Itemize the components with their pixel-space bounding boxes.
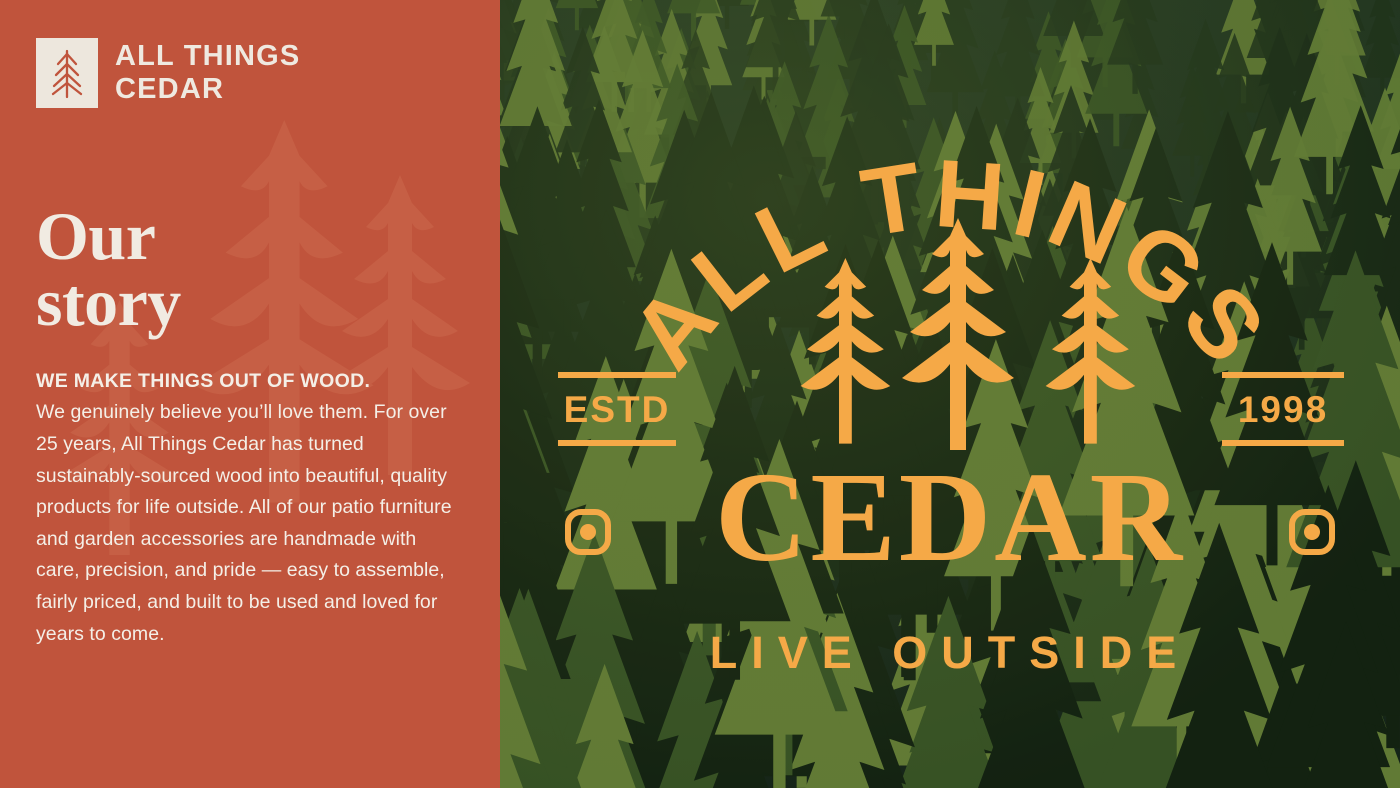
brand-mark-tile (36, 38, 98, 108)
year-block: 1998 (1222, 372, 1344, 446)
page-title-line2: story (36, 270, 464, 336)
target-dot-icon-left (568, 512, 608, 552)
forest-badge-panel: ALL THINGS ESTD 1998 (500, 0, 1400, 788)
brand-name: ALL THINGS CEDAR (115, 40, 300, 106)
story-paragraph: We genuinely believe you’ll love them. F… (36, 397, 456, 650)
estd-block: ESTD (558, 372, 676, 446)
estd-label: ESTD (564, 389, 671, 430)
page-title: Our story (36, 204, 464, 336)
story-body: WE MAKE THINGS OUT OF WOOD. We genuinely… (36, 366, 456, 650)
left-content-panel: ALL THINGS CEDAR Our story WE MAKE THING… (0, 0, 500, 788)
estd-year: 1998 (1238, 389, 1328, 430)
pine-tree-icon (47, 47, 87, 99)
cedar-badge: ALL THINGS ESTD 1998 (500, 0, 1400, 788)
badge-wordmark: CEDAR (715, 446, 1185, 588)
brand-lockup[interactable]: ALL THINGS CEDAR (36, 38, 464, 108)
target-dot-icon-right (1292, 512, 1332, 552)
story-lede: WE MAKE THINGS OUT OF WOOD. (36, 366, 456, 398)
badge-tagline: LIVE OUTSIDE (710, 627, 1191, 678)
brand-name-line2: CEDAR (115, 73, 300, 106)
brand-name-line1: ALL THINGS (115, 40, 300, 73)
page-title-line1: Our (36, 204, 464, 270)
our-story-page: ALL THINGS CEDAR Our story WE MAKE THING… (0, 0, 1400, 788)
